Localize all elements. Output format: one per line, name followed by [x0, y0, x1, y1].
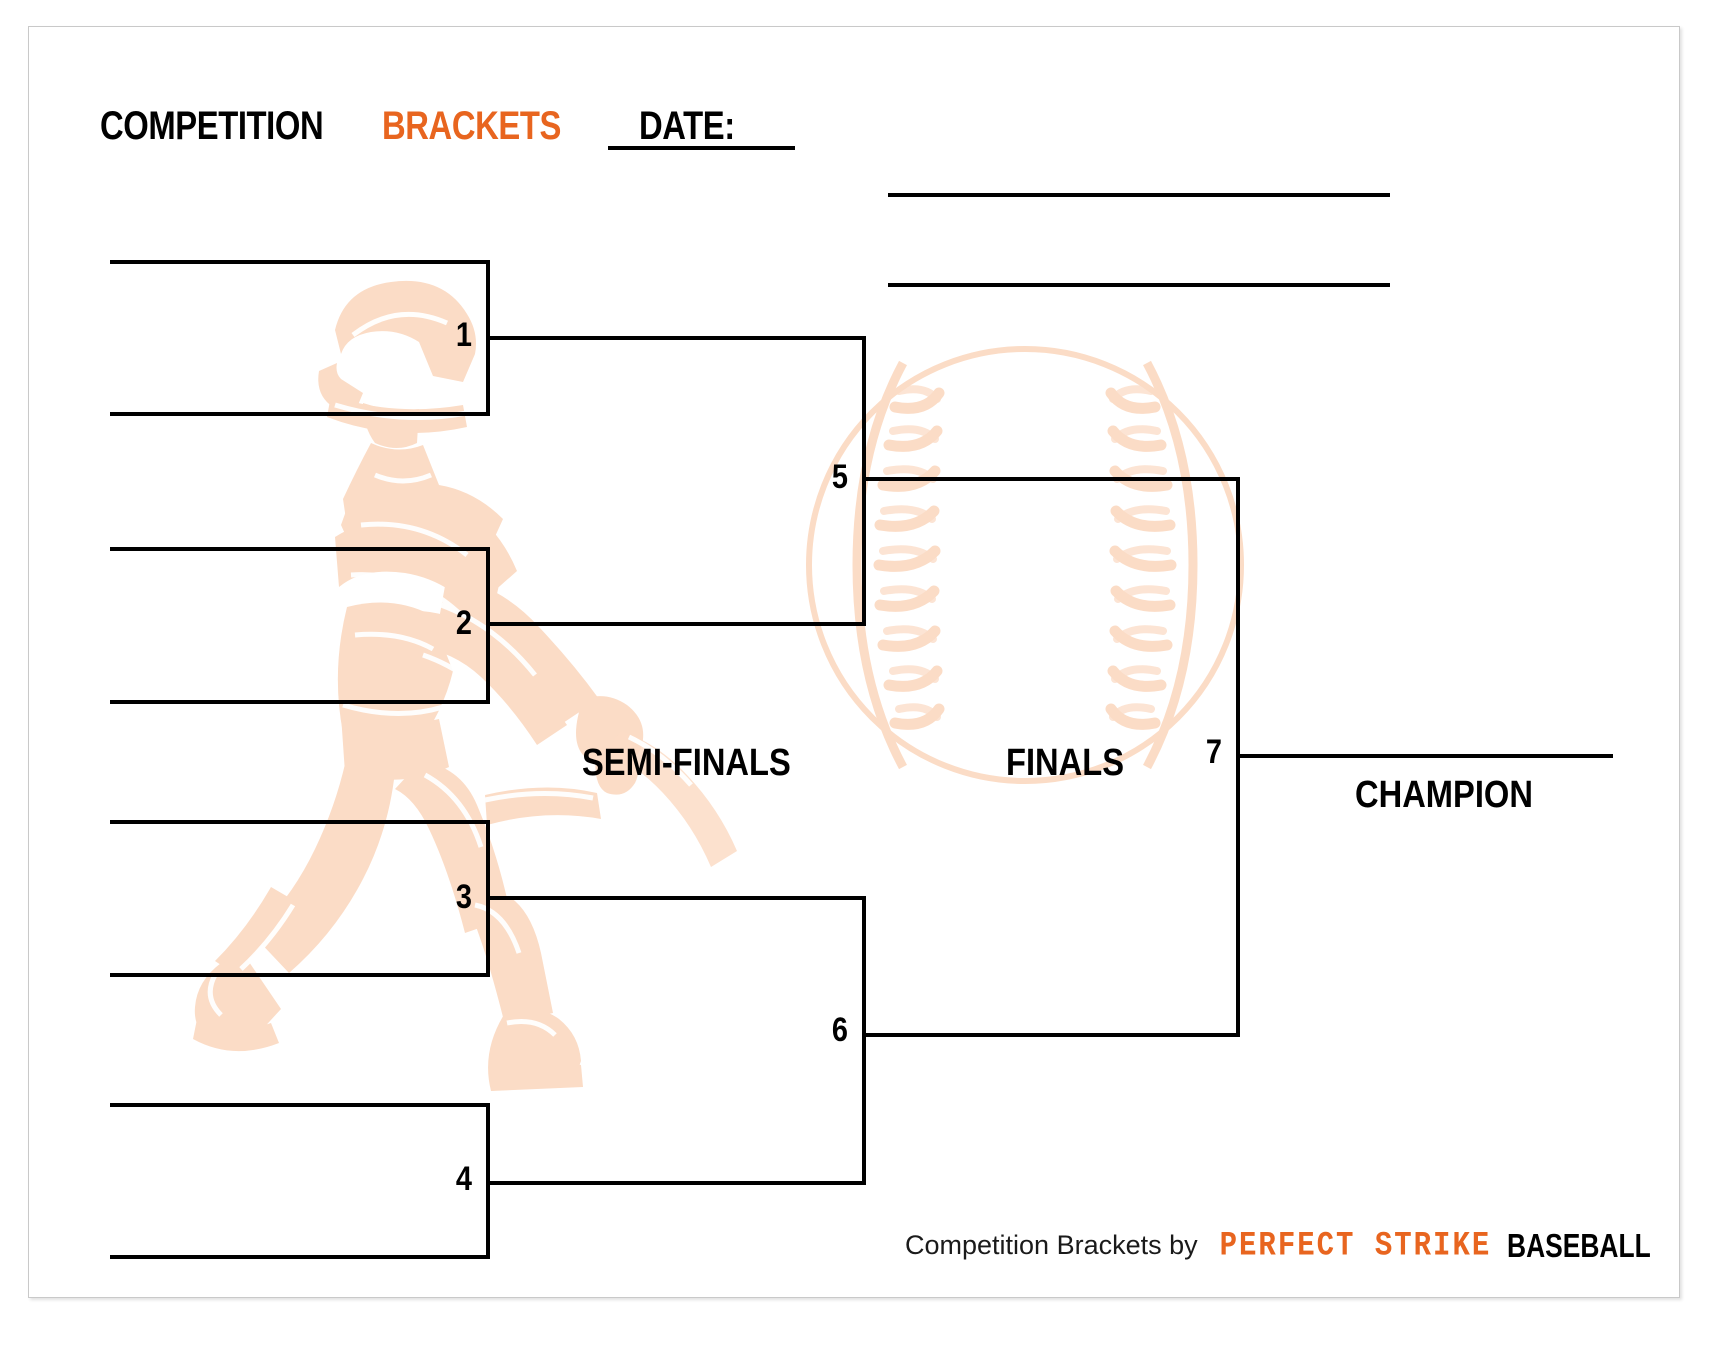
footer-credit-text: Competition Brackets by: [905, 1232, 1198, 1259]
match-number-7: 7: [1169, 735, 1222, 769]
final-feed-line-top[interactable]: [862, 477, 1240, 481]
bracket-page: COMPETITION BRACKETS DATE: 1 2 3 4 5 6 7…: [0, 0, 1725, 1350]
match-connector-6: [862, 896, 866, 1185]
match-number-2: 2: [419, 606, 472, 640]
champion-input-line[interactable]: [1236, 754, 1613, 758]
info-input-line-1[interactable]: [888, 193, 1390, 197]
page-title-main: COMPETITION: [100, 106, 323, 146]
team-slot-line-4[interactable]: [110, 700, 490, 704]
date-label: DATE:: [639, 106, 735, 146]
round-label-semifinals: SEMI-FINALS: [582, 744, 791, 782]
info-input-line-2[interactable]: [888, 283, 1390, 287]
brand-perfect-strike-logo: PERFECT STRIKE: [1220, 1228, 1492, 1262]
team-slot-line-8[interactable]: [110, 1255, 490, 1259]
semifinal-feed-line-top-2[interactable]: [486, 896, 866, 900]
team-slot-line-3[interactable]: [110, 547, 490, 551]
match-number-1: 1: [419, 318, 472, 352]
match-number-3: 3: [419, 880, 472, 914]
team-slot-line-7[interactable]: [110, 1103, 490, 1107]
match-number-4: 4: [419, 1162, 472, 1196]
date-input-line[interactable]: [608, 146, 795, 150]
match-connector-5: [862, 336, 866, 626]
round-label-finals: FINALS: [1006, 744, 1124, 782]
page-sheet-border: [28, 26, 1680, 1298]
page-footer: Competition Brackets by PERFECT STRIKE B…: [905, 1229, 1687, 1262]
team-slot-line-1[interactable]: [110, 260, 490, 264]
team-slot-line-6[interactable]: [110, 973, 490, 977]
team-slot-line-5[interactable]: [110, 820, 490, 824]
page-header: COMPETITION BRACKETS DATE:: [100, 106, 755, 146]
match-number-6: 6: [795, 1013, 848, 1047]
brand-baseball-label: BASEBALL: [1507, 1229, 1651, 1262]
team-slot-line-2[interactable]: [110, 412, 490, 416]
semifinal-feed-line-bottom-2[interactable]: [486, 1181, 866, 1185]
semifinal-feed-line-top[interactable]: [486, 336, 866, 340]
page-title-accent: BRACKETS: [382, 106, 561, 146]
match-number-5: 5: [795, 460, 848, 494]
round-label-champion: CHAMPION: [1355, 776, 1533, 814]
semifinal-feed-line-bottom[interactable]: [486, 622, 866, 626]
final-feed-line-bottom[interactable]: [862, 1033, 1240, 1037]
